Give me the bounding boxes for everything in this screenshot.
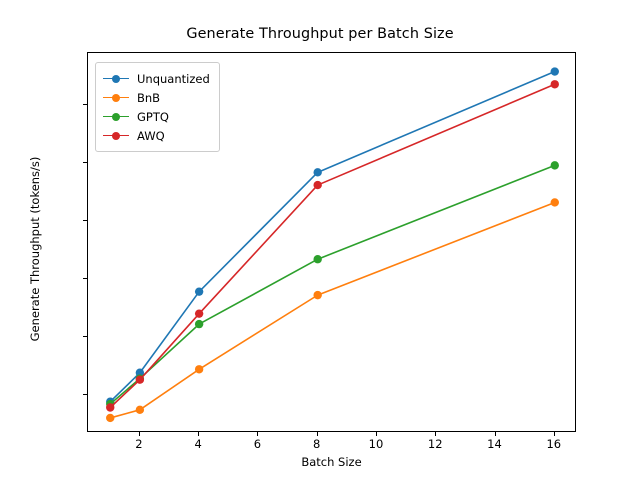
legend-marker-icon: [112, 132, 120, 140]
chart-legend: UnquantizedBnBGPTQAWQ: [95, 62, 220, 152]
series-bnb: [106, 198, 559, 422]
x-axis-label: Batch Size: [87, 455, 576, 469]
y-axis-label: Generate Throughput (tokens/s): [28, 59, 42, 439]
chart-figure: Generate Throughput per Batch Size Gener…: [0, 0, 640, 480]
data-point: [313, 255, 321, 263]
legend-swatch-icon: [103, 92, 129, 104]
data-point: [313, 181, 321, 189]
series-gptq: [106, 161, 559, 408]
x-tick-label: 14: [475, 437, 515, 451]
data-point: [195, 320, 203, 328]
data-point: [551, 198, 559, 206]
legend-marker-icon: [112, 75, 120, 83]
legend-swatch-icon: [103, 73, 129, 85]
data-point: [136, 376, 144, 384]
legend-swatch-icon: [103, 111, 129, 123]
x-tick-label: 12: [415, 437, 455, 451]
data-point: [195, 287, 203, 295]
data-point: [551, 80, 559, 88]
x-tick-label: 10: [356, 437, 396, 451]
data-point: [551, 67, 559, 75]
legend-item-unquantized[interactable]: Unquantized: [103, 69, 210, 88]
data-point: [313, 168, 321, 176]
legend-swatch-icon: [103, 130, 129, 142]
legend-item-awq[interactable]: AWQ: [103, 126, 210, 145]
legend-item-gptq[interactable]: GPTQ: [103, 107, 210, 126]
x-tick-label: 16: [534, 437, 574, 451]
legend-label: AWQ: [137, 129, 165, 143]
legend-label: BnB: [137, 91, 160, 105]
chart-title: Generate Throughput per Batch Size: [0, 26, 640, 42]
y-axis-label-wrapper: Generate Throughput (tokens/s): [27, 52, 28, 432]
data-point: [195, 309, 203, 317]
series-line: [110, 202, 555, 417]
data-point: [195, 365, 203, 373]
legend-item-bnb[interactable]: BnB: [103, 88, 210, 107]
data-point: [136, 406, 144, 414]
legend-label: Unquantized: [137, 72, 210, 86]
x-tick-label: 2: [119, 437, 159, 451]
legend-marker-icon: [112, 94, 120, 102]
x-tick-label: 6: [237, 437, 277, 451]
x-tick-label: 4: [178, 437, 218, 451]
legend-label: GPTQ: [137, 110, 169, 124]
data-point: [106, 414, 114, 422]
series-line: [110, 165, 555, 404]
legend-marker-icon: [112, 113, 120, 121]
data-point: [106, 403, 114, 411]
data-point: [313, 291, 321, 299]
data-point: [551, 161, 559, 169]
x-tick-label: 8: [297, 437, 337, 451]
